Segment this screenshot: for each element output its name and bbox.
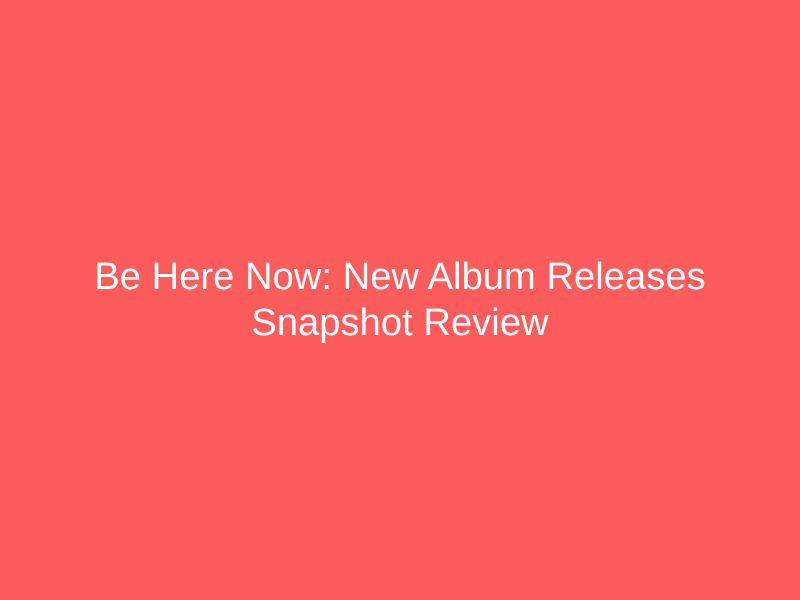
page-title: Be Here Now: New Album Releases Snapshot… bbox=[56, 254, 744, 346]
hero-banner: Be Here Now: New Album Releases Snapshot… bbox=[0, 0, 800, 600]
